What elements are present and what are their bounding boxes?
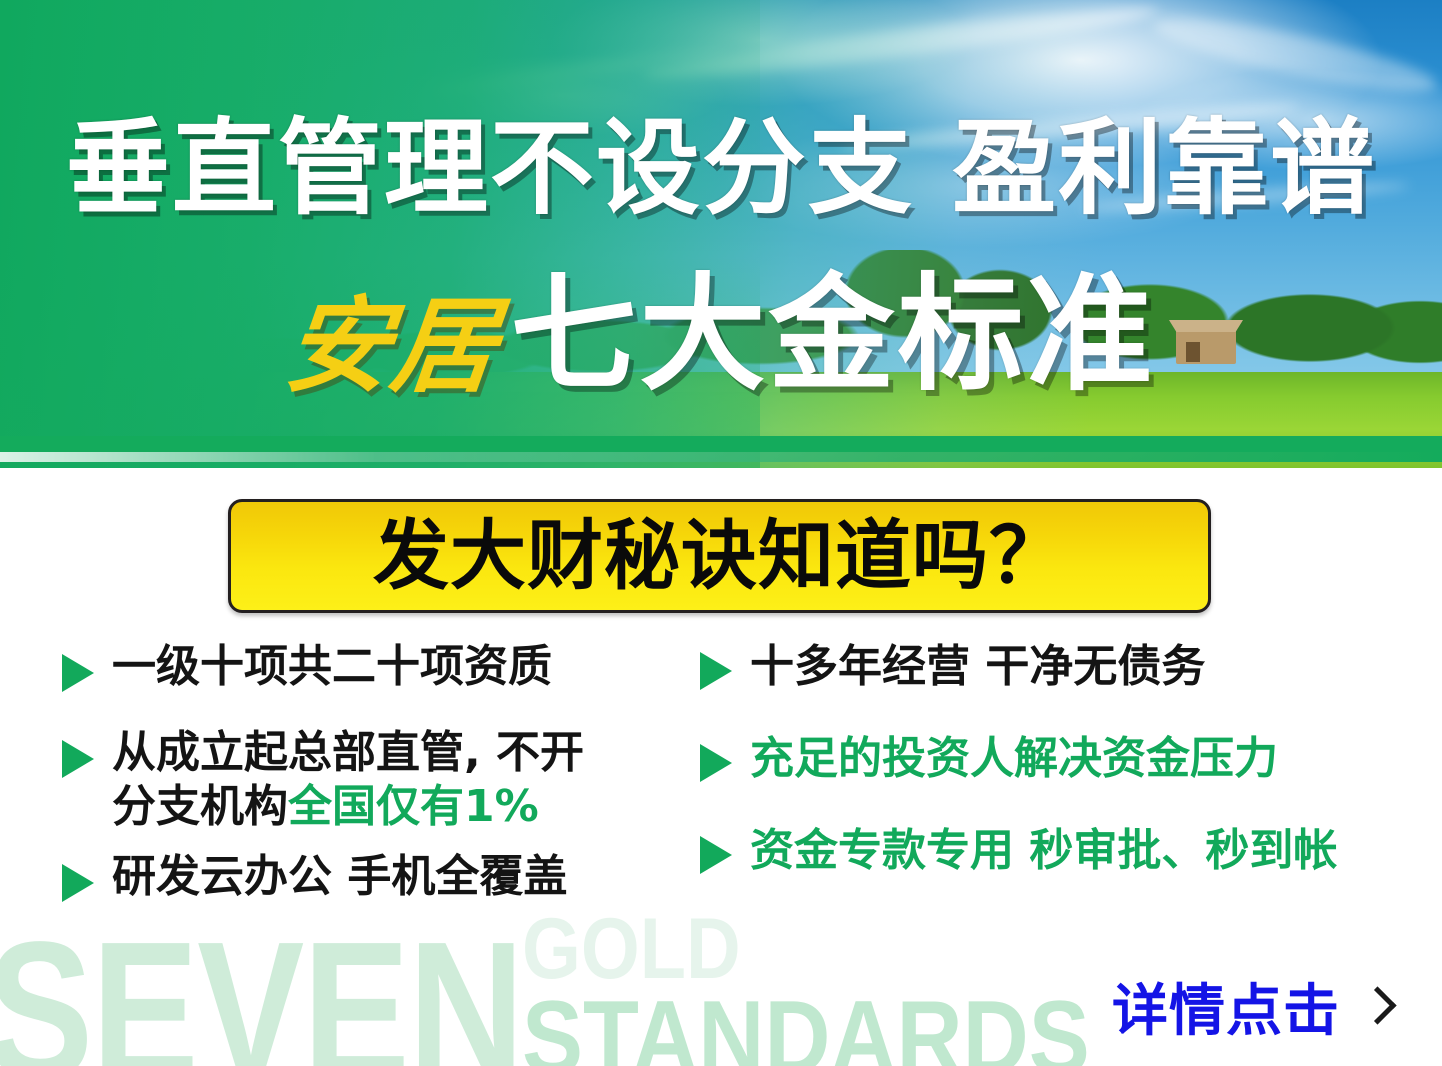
feature-text: 资金专款专用 秒审批、秒到帐 <box>750 824 1337 878</box>
hero-headline-line1: 垂直管理不设分支 盈利靠谱 <box>0 116 1442 220</box>
triangle-bullet-icon <box>62 654 94 692</box>
feature-line: 从成立起总部直管, 不开 <box>112 726 584 780</box>
feature-line: 资金专款专用 秒审批、秒到帐 <box>750 824 1337 878</box>
feature-line: 充足的投资人解决资金压力 <box>750 732 1278 786</box>
feature-text: 十多年经营 干净无债务 <box>750 640 1205 694</box>
chevron-right-icon <box>1362 988 1390 1036</box>
feature-text: 从成立起总部直管, 不开 分支机构全国仅有1% <box>112 726 584 834</box>
hero-image: 垂直管理不设分支 盈利靠谱 安居 七大金标准 <box>0 0 1442 468</box>
features-section: 一级十项共二十项资质 从成立起总部直管, 不开 分支机构全国仅有1% 研发云办公… <box>0 640 1442 1020</box>
feature-line: 研发云办公 手机全覆盖 <box>112 850 567 904</box>
list-item: 资金专款专用 秒审批、秒到帐 <box>700 824 1420 878</box>
headline-yellow-banner[interactable]: 发大财秘诀知道吗？ <box>228 499 1211 613</box>
feature-text: 充足的投资人解决资金压力 <box>750 732 1278 786</box>
hero-headline-main: 七大金标准 <box>511 272 1156 398</box>
feature-line-accent: 全国仅有1% <box>288 781 539 832</box>
hero-headline-brand: 安居 <box>281 294 504 398</box>
list-item: 研发云办公 手机全覆盖 <box>62 850 692 904</box>
feature-text: 研发云办公 手机全覆盖 <box>112 850 567 904</box>
cta-label: 详情点击 <box>1112 984 1340 1040</box>
details-cta-link[interactable]: 详情点击 <box>1112 984 1390 1040</box>
triangle-bullet-icon <box>62 864 94 902</box>
triangle-bullet-icon <box>700 652 732 690</box>
triangle-bullet-icon <box>700 744 732 782</box>
yellow-banner-text: 发大财秘诀知道吗？ <box>373 518 1066 594</box>
hero-headline-line2: 安居 七大金标准 <box>0 272 1442 398</box>
feature-text: 一级十项共二十项资质 <box>112 640 552 694</box>
feature-line: 一级十项共二十项资质 <box>112 640 552 694</box>
triangle-bullet-icon <box>700 836 732 874</box>
hero-bottom-bar-light <box>0 452 1442 462</box>
triangle-bullet-icon <box>62 740 94 778</box>
advertisement-banner: 垂直管理不设分支 盈利靠谱 安居 七大金标准 发大财秘诀知道吗？ 一级十项共二十… <box>0 0 1442 1066</box>
list-item: 从成立起总部直管, 不开 分支机构全国仅有1% <box>62 726 692 834</box>
list-item: 一级十项共二十项资质 <box>62 640 692 694</box>
list-item: 充足的投资人解决资金压力 <box>700 732 1420 786</box>
feature-line: 十多年经营 干净无债务 <box>750 640 1205 694</box>
feature-line: 分支机构全国仅有1% <box>112 780 584 834</box>
hero-bottom-bar <box>0 436 1442 452</box>
feature-line-plain: 分支机构 <box>112 781 288 832</box>
list-item: 十多年经营 干净无债务 <box>700 640 1420 694</box>
features-left-column: 一级十项共二十项资质 从成立起总部直管, 不开 分支机构全国仅有1% 研发云办公… <box>62 640 692 930</box>
features-right-column: 十多年经营 干净无债务 充足的投资人解决资金压力 资金专款专用 秒审批、秒到帐 <box>700 640 1420 904</box>
